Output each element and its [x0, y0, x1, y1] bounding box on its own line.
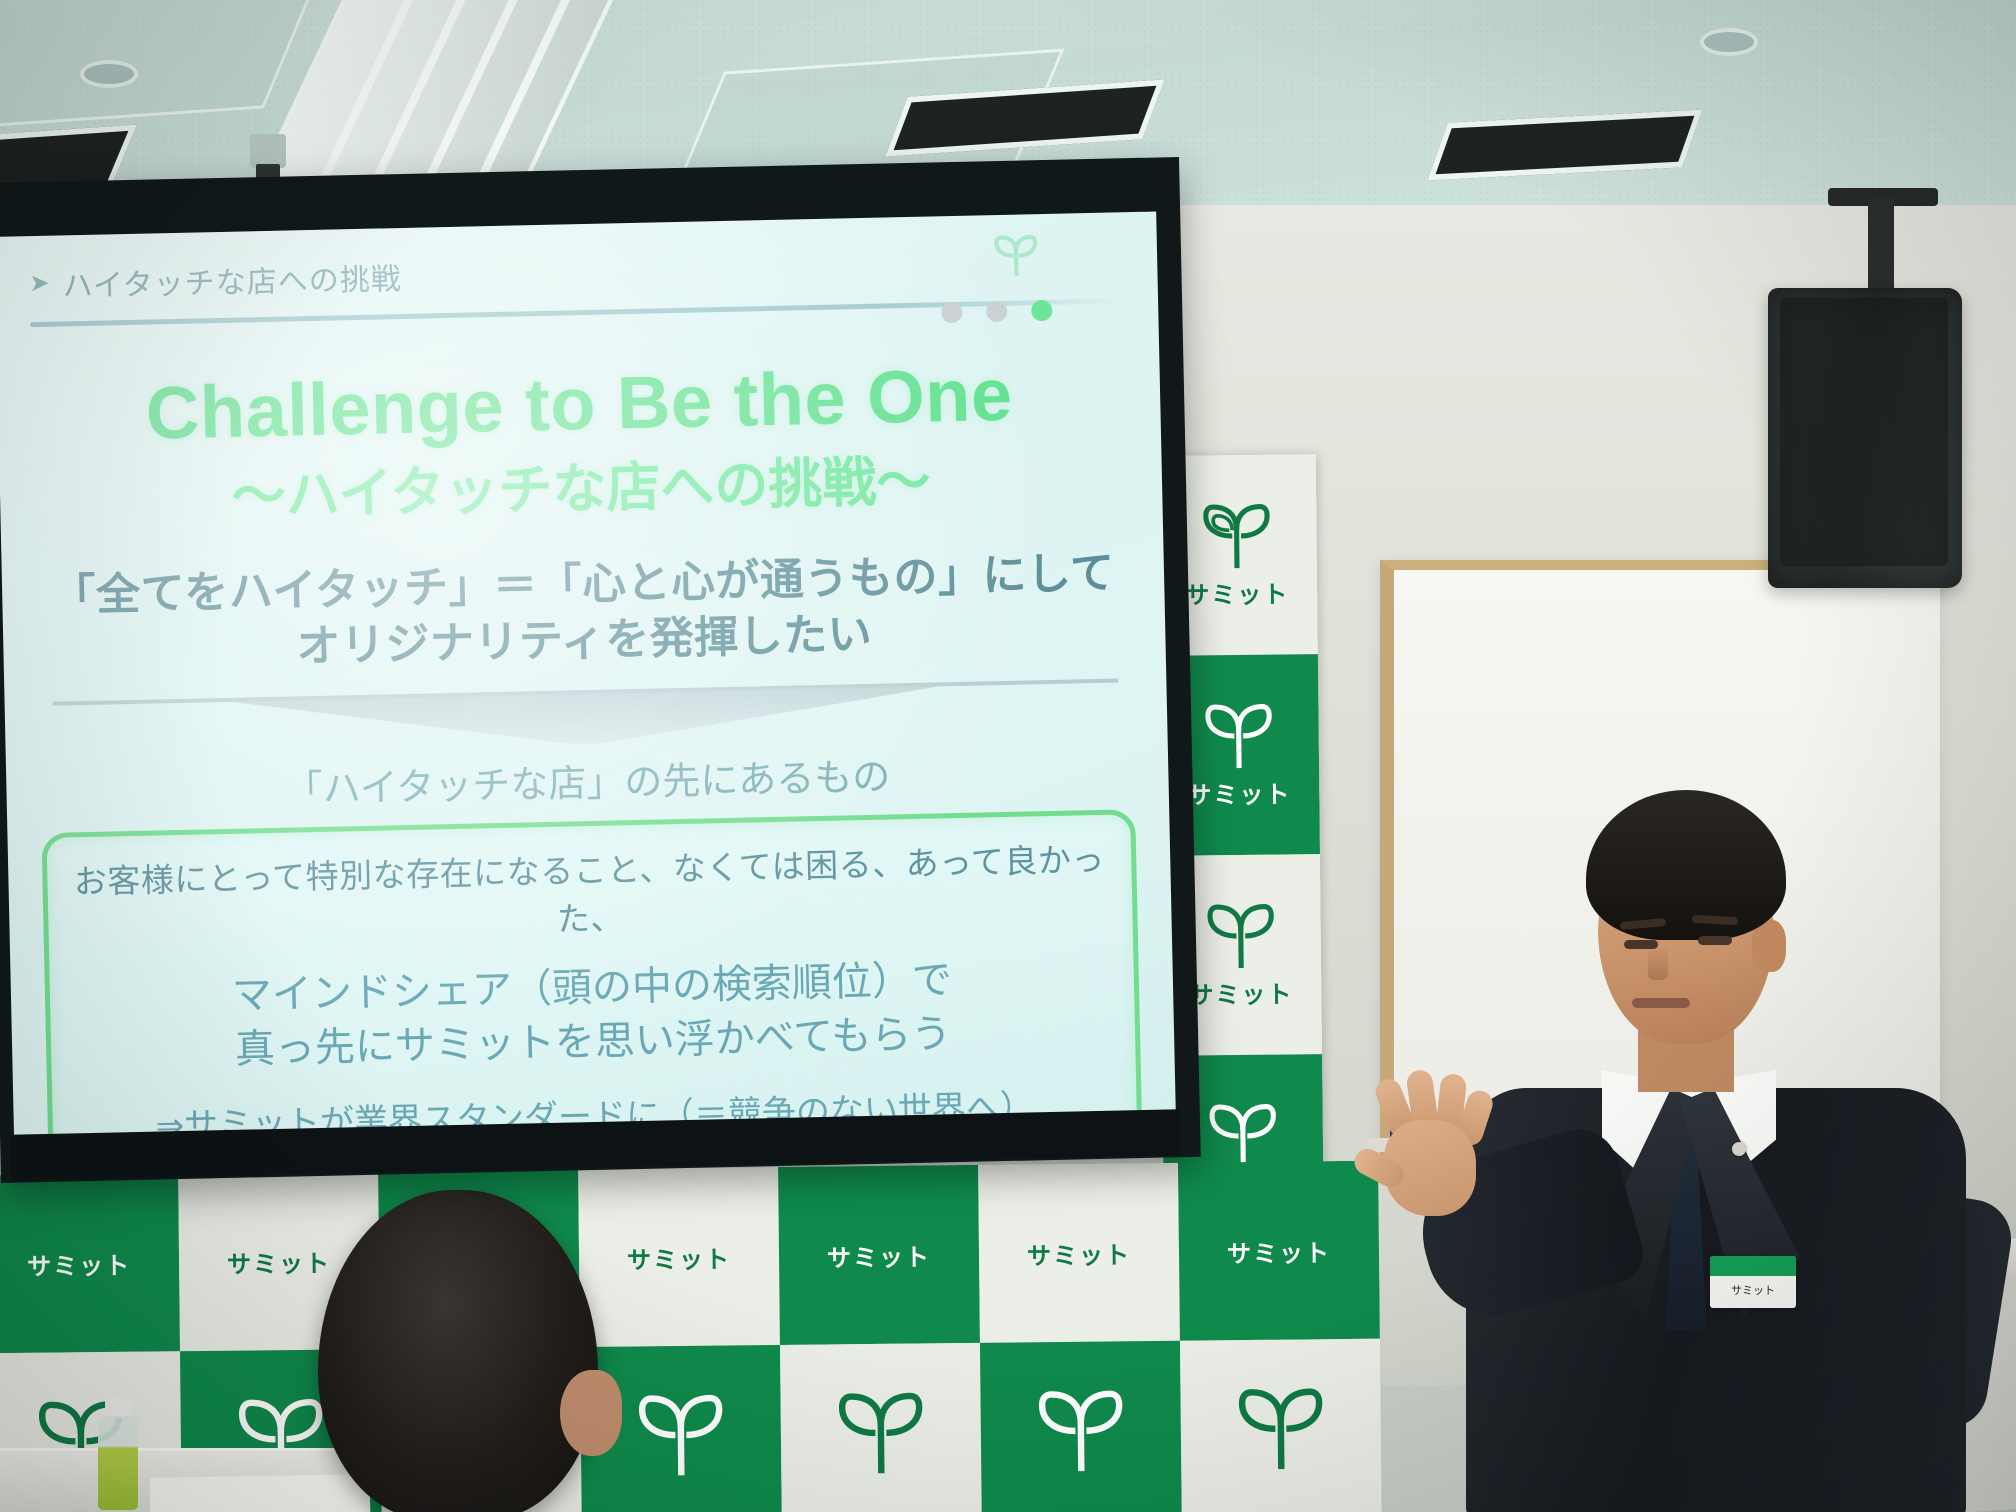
funnel-shape: [216, 684, 957, 752]
slide-kicker: ➤ ハイタッチな店への挑戦: [29, 238, 1124, 306]
ceiling-sensor: [250, 134, 286, 168]
speaker-mount-stem: [1868, 198, 1894, 290]
backdrop-brand-text: サミット: [627, 1239, 731, 1275]
banner-brand-text: サミット: [1187, 774, 1291, 810]
attendee-ear: [560, 1370, 622, 1456]
backdrop-cell: サミット: [978, 1163, 1180, 1343]
slide-lead: 「全てをハイタッチ」＝「心と心が通うもの」にして オリジナリティを発揮したい: [36, 545, 1132, 681]
backdrop-cell: サミット: [1178, 1161, 1380, 1341]
slide-kicker-text: ハイタッチな店への挑戦: [62, 254, 402, 305]
backdrop-brand-text: サミット: [1227, 1233, 1331, 1269]
summit-leaf-logo: [834, 1388, 927, 1477]
presentation-room-photo: サミット サミット サミット: [0, 0, 2016, 1512]
presenter-mouth: [1632, 998, 1690, 1008]
progress-dot-3: [1031, 300, 1052, 321]
badge-header-band: [1710, 1256, 1796, 1276]
projected-slide: ➤ ハイタッチな店への挑戦 Challenge to Be: [0, 212, 1176, 1137]
slide-content: ➤ ハイタッチな店への挑戦 Challenge to Be: [0, 212, 1176, 1137]
backdrop-cell: サミット: [578, 1167, 780, 1347]
summit-leaf-logo: [1206, 1100, 1281, 1171]
summit-leaf-logo: [1034, 1386, 1127, 1475]
backdrop-brand-text: サミット: [827, 1237, 931, 1273]
backdrop-brand-text: サミット: [27, 1245, 131, 1281]
speaker-grill: [1780, 298, 1948, 566]
papers-on-table: [150, 1474, 371, 1512]
presenter-eye-right: [1698, 936, 1732, 945]
backdrop-cell: [780, 1343, 982, 1512]
presenter-left-hand: [1366, 1070, 1496, 1220]
presenter-nose: [1648, 946, 1668, 980]
presenter: サミット: [1380, 770, 2016, 1512]
presenter-hair: [1586, 790, 1786, 940]
backdrop-cell: [1180, 1339, 1382, 1512]
green-tea-bottle: [96, 1398, 140, 1510]
banner-brand-text: サミット: [1185, 574, 1289, 610]
backdrop-cell: [980, 1341, 1182, 1512]
summit-leaf-logo: [993, 232, 1040, 279]
projection-screen: ➤ ハイタッチな店への挑戦 Challenge to Be: [0, 157, 1201, 1183]
arrow-icon: ➤: [29, 272, 51, 296]
progress-dot-1: [941, 302, 962, 323]
backdrop-brand-text: サミット: [227, 1243, 331, 1279]
ceiling-downlight-right: [1700, 28, 1758, 56]
slide-progress-dots: [941, 300, 1052, 323]
highlight-box: お客様にとって特別な存在になること、なくては困る、あって良かった、 マインドシェ…: [41, 809, 1142, 1137]
bottle-cap: [105, 1398, 131, 1418]
summit-leaf-logo: [1199, 500, 1274, 571]
progress-dot-2: [986, 301, 1007, 322]
presenter-name-badge: サミット: [1710, 1256, 1796, 1308]
ceiling-downlight-left: [80, 60, 138, 88]
summit-leaf-logo: [634, 1391, 727, 1480]
presenter-lapel-pin: [1732, 1142, 1746, 1156]
summit-leaf-logo: [1203, 900, 1278, 971]
banner-brand-text: サミット: [1189, 974, 1293, 1010]
ceiling-speaker: [1768, 288, 1962, 588]
summit-leaf-logo: [1234, 1384, 1327, 1473]
highlight-line-1: お客様にとって特別な存在になること、なくては困る、あって良かった、: [65, 832, 1115, 951]
backdrop-cell: サミット: [778, 1165, 980, 1345]
backdrop-brand-text: サミット: [1027, 1235, 1131, 1271]
badge-name-text: サミット: [1710, 1276, 1796, 1306]
summit-leaf-logo: [1201, 700, 1276, 771]
bottle-body: [98, 1416, 138, 1510]
backdrop-cell: サミット: [0, 1173, 180, 1353]
